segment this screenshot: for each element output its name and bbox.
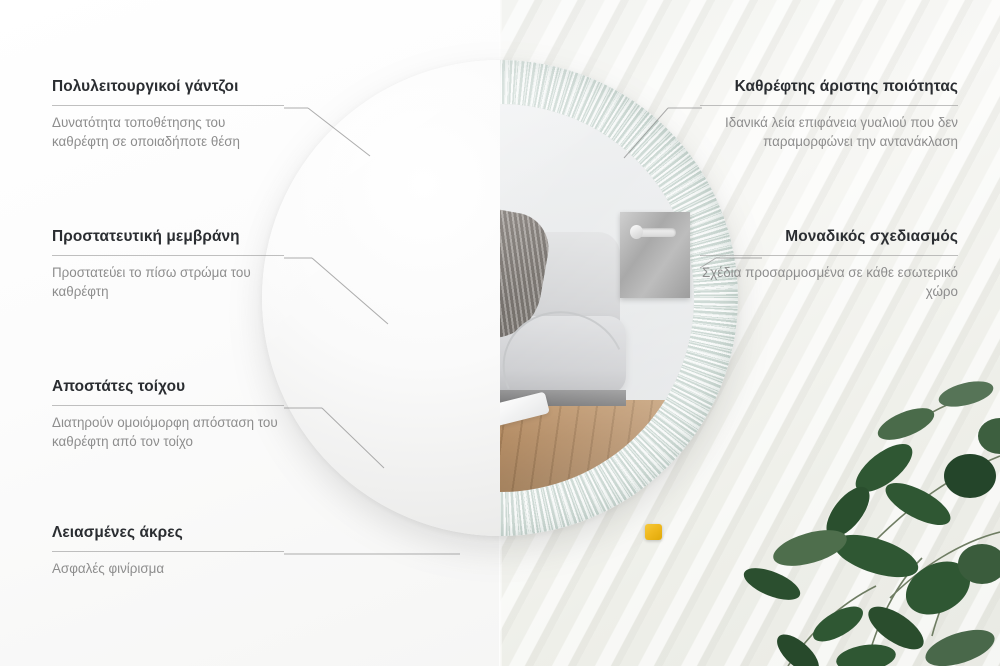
hanger-keyhole-slot [632, 228, 676, 237]
callout-protective-membrane: Προστατευτική μεμβράνη Προστατεύει το πί… [52, 228, 284, 301]
callout-title: Προστατευτική μεμβράνη [52, 228, 284, 246]
callout-rule [52, 255, 284, 256]
callout-rule [700, 105, 958, 106]
callout-description: Προστατεύει το πίσω στρώμα του καθρέφτη [52, 263, 284, 301]
hanger-plate [620, 212, 690, 298]
callout-smoothed-edges: Λειασμένες άκρες Ασφαλές φινίρισμα [52, 524, 284, 578]
callout-wall-spacers: Αποστάτες τοίχου Διατηρούν ομοιόμορφη απ… [52, 378, 284, 451]
callout-unique-design: Μοναδικός σχεδιασμός Σχέδια προσαρμοσμέν… [700, 228, 958, 301]
callout-title: Πολυλειτουργικοί γάντζοι [52, 78, 284, 96]
callout-multifunctional-hooks: Πολυλειτουργικοί γάντζοι Δυνατότητα τοπο… [52, 78, 284, 151]
callout-description: Δυνατότητα τοποθέτησης του καθρέφτη σε ο… [52, 113, 284, 151]
callout-rule [52, 405, 284, 406]
callout-rule [700, 255, 958, 256]
callout-title: Καθρέφτης άριστης ποιότητας [700, 78, 958, 96]
callout-description: Διατηρούν ομοιόμορφη απόσταση του καθρέφ… [52, 413, 284, 451]
callout-premium-mirror: Καθρέφτης άριστης ποιότητας Ιδανικά λεία… [700, 78, 958, 151]
callout-title: Λειασμένες άκρες [52, 524, 284, 542]
callout-description: Ιδανικά λεία επιφάνεια γυαλιού που δεν π… [700, 113, 958, 151]
infographic-canvas: Πολυλειτουργικοί γάντζοι Δυνατότητα τοπο… [0, 0, 1000, 666]
callout-rule [52, 105, 284, 106]
callout-title: Μοναδικός σχεδιασμός [700, 228, 958, 246]
callout-description: Ασφαλές φινίρισμα [52, 559, 284, 578]
product-mirror [262, 60, 738, 536]
callout-title: Αποστάτες τοίχου [52, 378, 284, 396]
wall-spacer [645, 524, 662, 540]
callout-description: Σχέδια προσαρμοσμένα σε κάθε εσωτερικό χ… [700, 263, 958, 301]
callout-rule [52, 551, 284, 552]
